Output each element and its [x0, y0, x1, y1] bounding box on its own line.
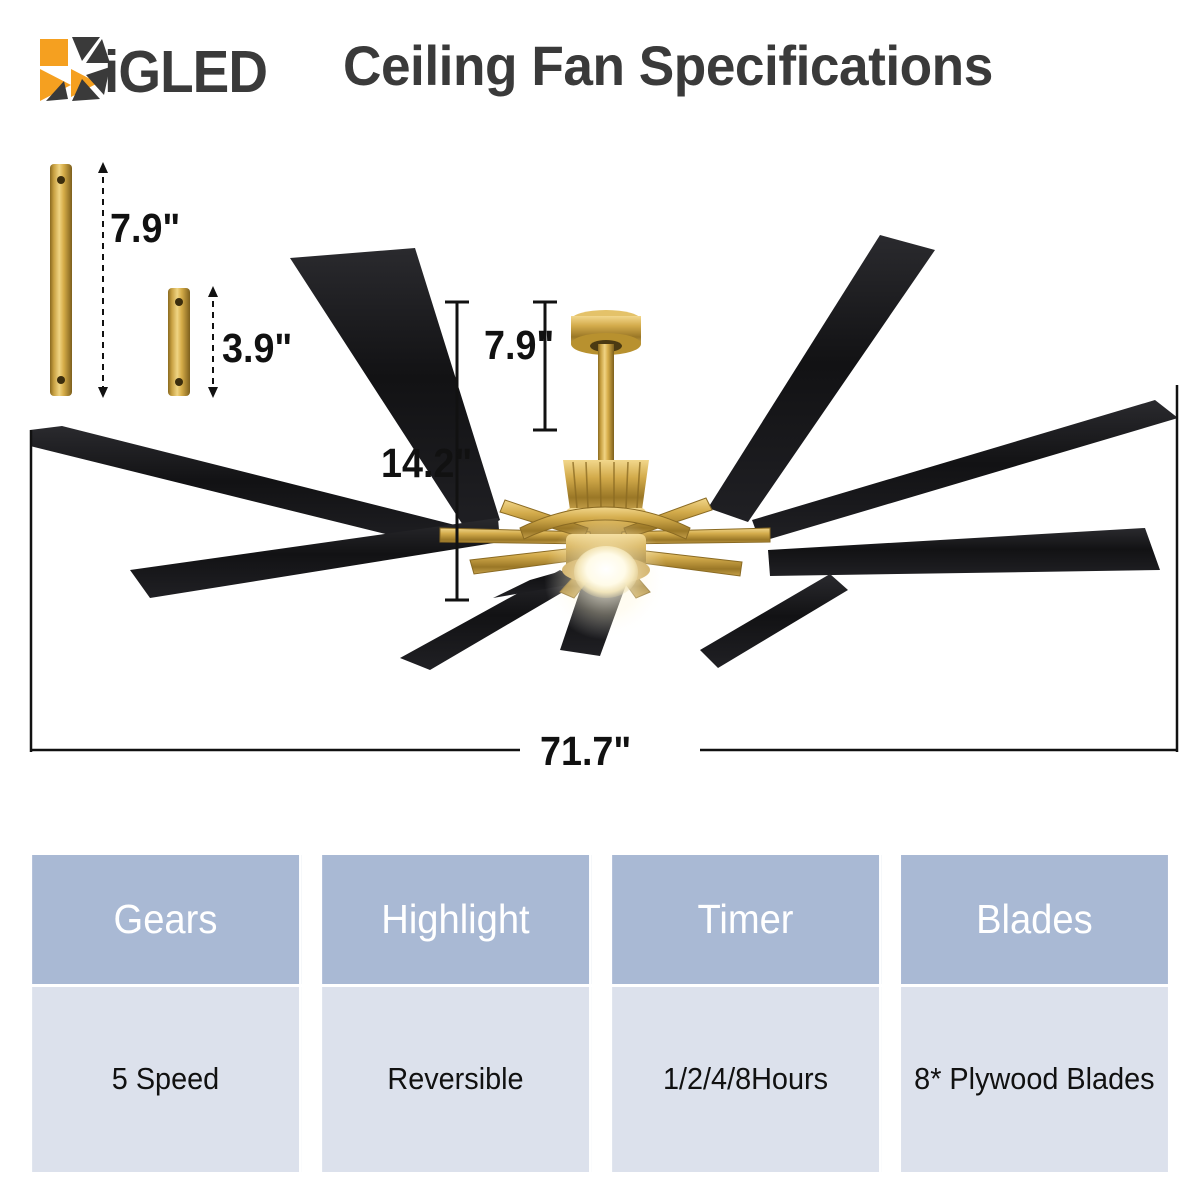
dimension-label-rod-drop: 7.9"	[484, 322, 554, 369]
table-header-gears: Gears	[32, 855, 301, 984]
product-spec-sheet: iGLED Ceiling Fan Specifications	[0, 0, 1200, 1200]
led-light-module	[544, 516, 668, 640]
downrod-part	[598, 344, 614, 460]
dimension-label-total-height: 14.2"	[381, 440, 472, 487]
aperture-logo-icon	[38, 33, 113, 105]
table-header-row: Gears Highlight Timer Blades	[22, 855, 1178, 987]
specification-table: Gears Highlight Timer Blades 5 Speed Rev…	[22, 855, 1178, 1172]
long-downrod-part	[50, 164, 72, 396]
table-header-highlight: Highlight	[322, 855, 591, 984]
table-header-timer: Timer	[612, 855, 881, 984]
ceiling-fan-dimension-diagram: 7.9" 3.9" 7.9" 14.2" 71.7"	[0, 130, 1200, 830]
table-cell-gears: 5 Speed	[32, 987, 301, 1172]
table-cell-blades: 8* Plywood Blades	[901, 987, 1168, 1172]
dimension-label-blade-span: 71.7"	[540, 728, 631, 775]
dimension-line-downrod-short	[208, 286, 218, 398]
page-title: Ceiling Fan Specifications	[343, 33, 993, 98]
dimension-label-downrod-short: 3.9"	[222, 325, 292, 372]
short-downrod-part	[168, 288, 190, 396]
page-header: iGLED Ceiling Fan Specifications	[0, 0, 1200, 130]
brand-name: iGLED	[104, 38, 267, 106]
table-cell-highlight: Reversible	[322, 987, 591, 1172]
dimension-line-downrod-long	[98, 162, 108, 398]
table-cell-timer: 1/2/4/8Hours	[612, 987, 881, 1172]
dimension-label-downrod-long: 7.9"	[110, 205, 180, 252]
table-header-blades: Blades	[901, 855, 1168, 984]
table-row: 5 Speed Reversible 1/2/4/8Hours 8* Plywo…	[22, 987, 1178, 1172]
